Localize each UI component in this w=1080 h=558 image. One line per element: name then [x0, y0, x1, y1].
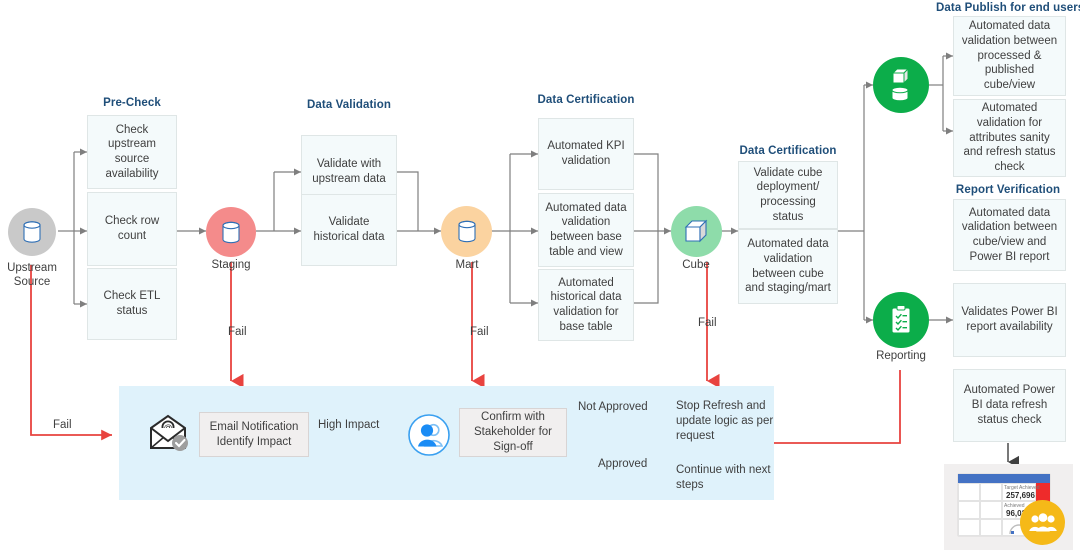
- pre-check-box-1[interactable]: Check upstream source availability: [87, 115, 177, 189]
- approved-label: Approved: [598, 458, 647, 470]
- report-verification-box-2[interactable]: Validates Power BI report availability: [953, 283, 1066, 357]
- node-data-publish[interactable]: [873, 57, 929, 113]
- node-mart[interactable]: [441, 206, 492, 257]
- dashboard-cell: [980, 501, 1002, 519]
- node-label-staging: Staging: [176, 258, 286, 272]
- database-icon: [457, 219, 477, 244]
- dashboard-cell: [980, 519, 1002, 536]
- clipboard-check-icon: [887, 304, 915, 336]
- data-certification-1-box-2[interactable]: Automated data validation between base t…: [538, 193, 634, 267]
- data-publish-box-1[interactable]: Automated data validation between proces…: [953, 16, 1066, 96]
- section-title-data-certification-2: Data Certification: [722, 145, 854, 157]
- fail-label-cube: Fail: [698, 317, 717, 329]
- dashboard-cell: [958, 519, 980, 536]
- section-title-data-publish: Data Publish for end users: [936, 2, 1080, 14]
- pre-check-box-3[interactable]: Check ETL status: [87, 268, 177, 340]
- not-approved-outcome: Stop Refresh and update logic as per req…: [676, 399, 776, 444]
- database-icon: [221, 220, 241, 245]
- people-group-icon: [1028, 512, 1058, 534]
- database-icon: [22, 220, 42, 244]
- node-staging[interactable]: [206, 207, 256, 257]
- email-check-icon[interactable]: @: [146, 410, 190, 454]
- node-upstream-source[interactable]: [8, 208, 56, 256]
- data-certification-2-box-1[interactable]: Validate cube deployment/ processing sta…: [738, 161, 838, 229]
- node-label-reporting: Reporting: [846, 349, 956, 363]
- approved-outcome: Continue with next steps: [676, 463, 772, 493]
- data-validation-box-2[interactable]: Validate historical data: [301, 194, 397, 266]
- report-verification-box-1[interactable]: Automated data validation between cube/v…: [953, 199, 1066, 271]
- metric-value-1: 257,696: [1006, 491, 1035, 500]
- fail-label-upstream: Fail: [53, 419, 72, 431]
- node-label-cube: Cube: [641, 258, 751, 272]
- dashboard-header-row: [958, 474, 1050, 483]
- dashboard-cell: [980, 483, 1002, 501]
- users-icon[interactable]: [407, 413, 451, 457]
- data-certification-2-box-2[interactable]: Automated data validation between cube a…: [738, 229, 838, 304]
- cube-database-icon: [888, 67, 914, 103]
- section-title-data-certification-1: Data Certification: [520, 94, 652, 106]
- pre-check-box-2[interactable]: Check row count: [87, 192, 177, 266]
- high-impact-label: High Impact: [318, 419, 379, 431]
- section-title-pre-check: Pre-Check: [74, 97, 190, 109]
- section-title-data-validation: Data Validation: [287, 99, 411, 111]
- fail-label-staging: Fail: [228, 326, 247, 338]
- stakeholder-signoff-box[interactable]: Confirm with Stakeholder for Sign-off: [459, 408, 567, 457]
- node-label-mart: Mart: [412, 258, 522, 272]
- report-verification-box-3[interactable]: Automated Power BI data refresh status c…: [953, 369, 1066, 442]
- node-label-upstream-source: Upstream Source: [0, 261, 87, 290]
- people-group-badge: [1020, 500, 1065, 545]
- fail-label-mart: Fail: [470, 326, 489, 338]
- email-notification-box[interactable]: Email Notification Identify Impact: [199, 412, 309, 457]
- cube-icon: [683, 219, 711, 245]
- dashboard-cell: [958, 501, 980, 519]
- power-bi-report-thumbnail[interactable]: Target Achieved 257,696 Achieved 96,029: [944, 464, 1073, 550]
- diagram-canvas: Pre-Check Data Validation Data Certifica…: [0, 0, 1080, 558]
- section-title-report-verification: Report Verification: [936, 184, 1080, 196]
- node-reporting[interactable]: [873, 292, 929, 348]
- not-approved-label: Not Approved: [578, 401, 648, 413]
- data-publish-box-2[interactable]: Automated validation for attributes sani…: [953, 99, 1066, 177]
- data-certification-1-box-3[interactable]: Automated historical data validation for…: [538, 269, 634, 341]
- node-cube[interactable]: [671, 206, 722, 257]
- dashboard-cell: [958, 483, 980, 501]
- data-certification-1-box-1[interactable]: Automated KPI validation: [538, 118, 634, 190]
